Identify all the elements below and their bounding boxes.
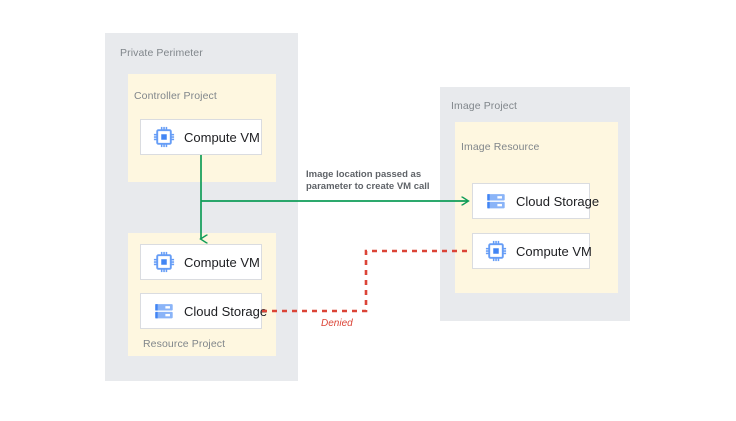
cloud-storage-icon — [153, 300, 175, 322]
container-label-private-perimeter: Private Perimeter — [120, 47, 203, 59]
compute-vm-icon — [153, 251, 175, 273]
node-label: Compute VM — [184, 255, 260, 270]
project-label-controller-project: Controller Project — [134, 90, 217, 102]
cloud-storage-icon — [485, 190, 507, 212]
container-label-image-project: Image Project — [451, 100, 517, 112]
node-label: Compute VM — [516, 244, 592, 259]
node-image-cloud-storage[interactable]: Cloud Storage — [472, 183, 590, 219]
edge-label-allowed: Image location passed as parameter to cr… — [306, 169, 446, 193]
node-image-compute-vm[interactable]: Compute VM — [472, 233, 590, 269]
compute-vm-icon — [485, 240, 507, 262]
project-label-image-resource: Image Resource — [461, 141, 539, 153]
compute-vm-icon — [153, 126, 175, 148]
node-label: Cloud Storage — [184, 304, 267, 319]
node-resource-cloud-storage[interactable]: Cloud Storage — [140, 293, 262, 329]
project-label-resource-project: Resource Project — [143, 338, 225, 350]
diagram-canvas: Private Perimeter Controller Project — [0, 0, 736, 421]
node-label: Compute VM — [184, 130, 260, 145]
node-label: Cloud Storage — [516, 194, 599, 209]
node-controller-compute-vm[interactable]: Compute VM — [140, 119, 262, 155]
edge-label-denied: Denied — [321, 318, 353, 329]
node-resource-compute-vm[interactable]: Compute VM — [140, 244, 262, 280]
